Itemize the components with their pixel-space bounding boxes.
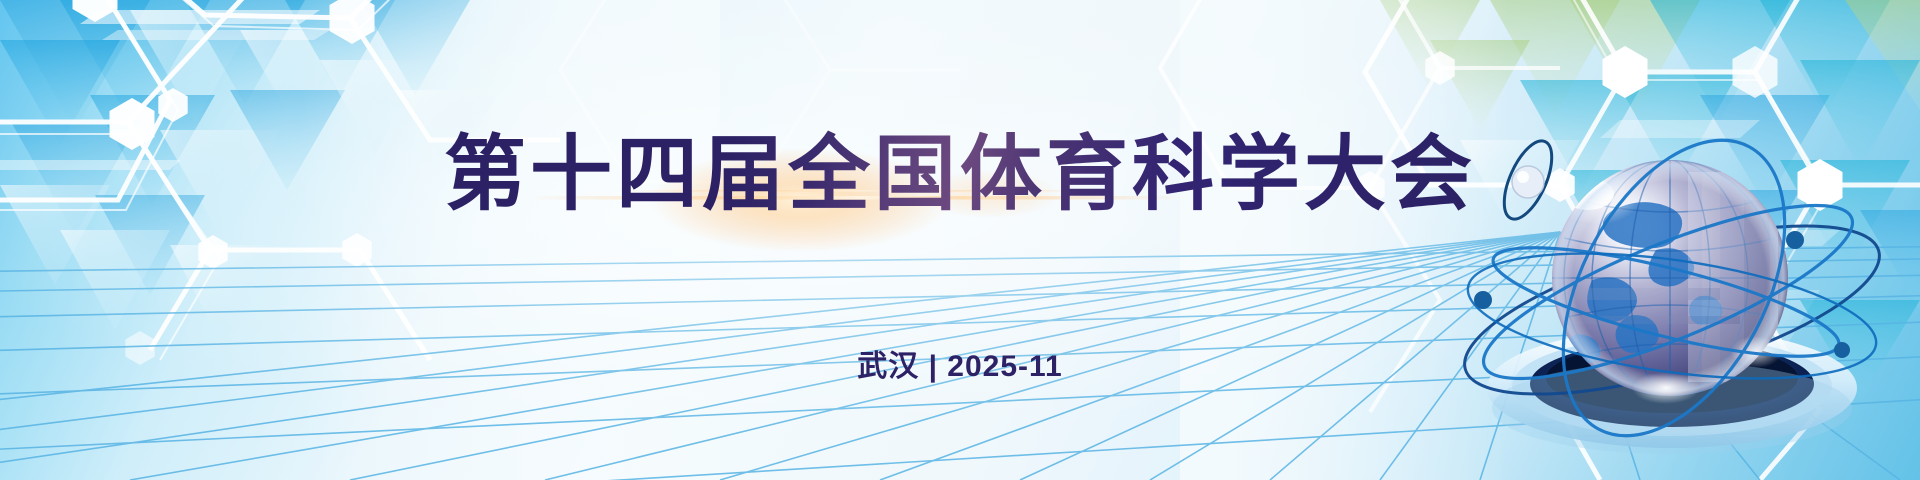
- banner-subtitle: 武汉 | 2025-11: [857, 348, 1063, 386]
- title-block: 第十四届全国体育科学大会: [0, 128, 1920, 222]
- conference-banner: 第十四届全国体育科学大会 武汉 | 2025-11: [0, 0, 1920, 480]
- subtitle-block: 武汉 | 2025-11: [0, 348, 1920, 386]
- banner-title: 第十四届全国体育科学大会: [438, 128, 1482, 222]
